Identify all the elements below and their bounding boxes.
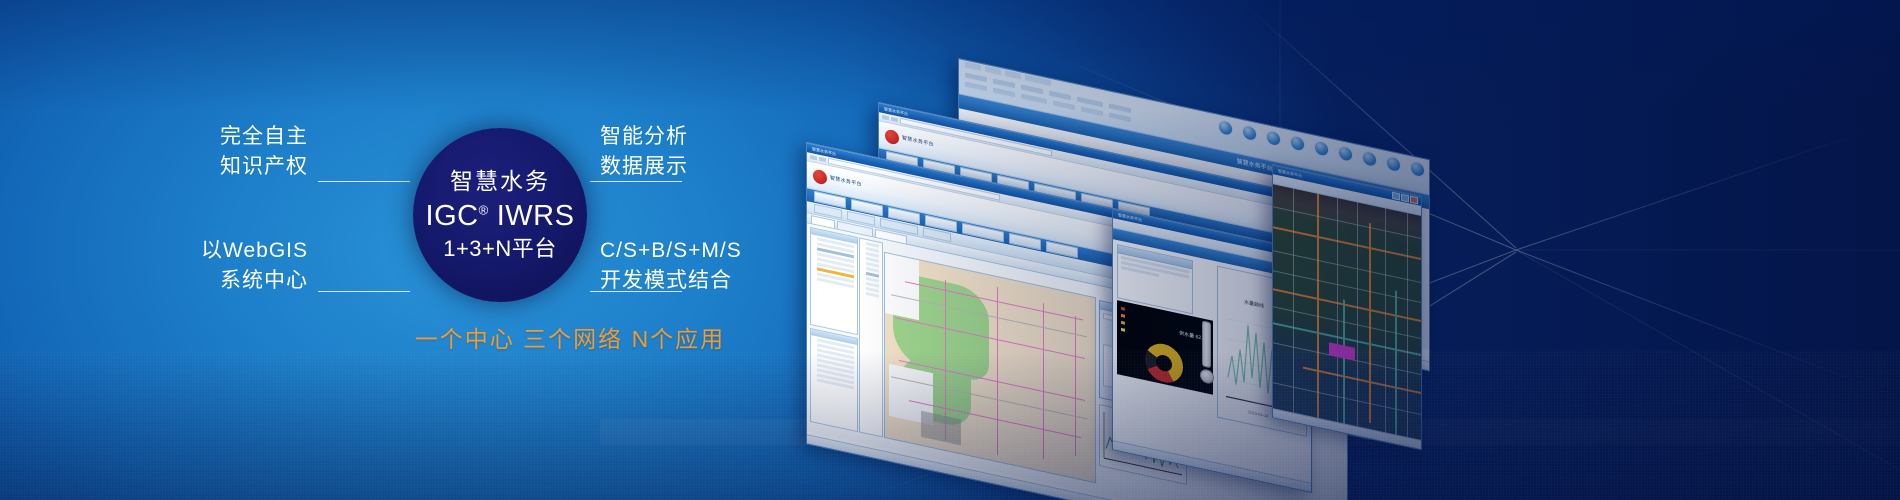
- company-logo-icon: [885, 129, 899, 146]
- sat-line-v: [1395, 290, 1397, 434]
- feature-label-top-left-line2: 知识产权: [180, 152, 308, 182]
- legend-swatch-3: [1121, 321, 1125, 325]
- sat-grid-v: [1357, 202, 1358, 426]
- sat-road-v: [1369, 223, 1371, 423]
- banner-tagline: 一个中心 三个网络 N个应用: [360, 320, 780, 354]
- sat-line-v: [1343, 299, 1345, 423]
- selected-area-highlight[interactable]: [1329, 342, 1355, 361]
- feature-label-top-left-line1: 完全自主: [180, 122, 308, 152]
- sat-grid-v: [1293, 189, 1294, 413]
- sat-grid-v: [1407, 213, 1408, 437]
- feature-label-bottom-right: C/S+B/S+M/S 开发模式结合: [600, 236, 780, 296]
- company-logo-icon: [813, 169, 827, 186]
- feature-label-top-left: 完全自主 知识产权: [180, 122, 308, 182]
- sat-grid-h: [1273, 206, 1421, 239]
- hero-banner: 智慧水务平台 (IGC®IWRS) 智慧水务平台 智慧水务平台 智慧水务平台 (…: [0, 0, 1900, 500]
- hub-brand-iwrs: IWRS: [497, 200, 575, 232]
- feature-label-top-right-line1: 智能分析: [600, 122, 770, 152]
- legend-swatch-2: [1121, 314, 1125, 318]
- sat-road-v: [1317, 194, 1319, 418]
- legend-swatch-4: [1121, 328, 1125, 332]
- platform-hub-circle: 智慧水务 IGC® IWRS 1+3+N平台: [413, 128, 587, 302]
- feature-label-top-right-line2: 数据展示: [600, 152, 770, 182]
- sat-road-h: [1273, 288, 1421, 322]
- brand-name: 智慧水务平台: [902, 134, 934, 148]
- feature-label-bottom-left-line1: 以WebGIS: [180, 236, 308, 266]
- feature-label-bottom-right-line2: 开发模式结合: [600, 266, 780, 296]
- feature-label-bottom-right-line1: C/S+B/S+M/S: [600, 236, 780, 266]
- zoom-slider[interactable]: [1202, 320, 1211, 368]
- map-toolbox[interactable]: [859, 237, 883, 437]
- brand-name: 智慧水务平台: [830, 174, 862, 188]
- hub-line-3: 1+3+N平台: [443, 238, 557, 260]
- window-satellite-map[interactable]: 智慧水务平台: [1272, 164, 1422, 450]
- chart-xlabel: 2013-04-18: [1248, 409, 1269, 418]
- pipeline-map[interactable]: [884, 252, 1096, 484]
- feature-label-bottom-left: 以WebGIS 系统中心: [180, 236, 308, 296]
- sat-grid-v: [1337, 198, 1338, 422]
- sat-grid-h: [1273, 270, 1421, 303]
- attribute-panel[interactable]: [810, 328, 858, 432]
- hub-line-1: 智慧水务: [450, 170, 550, 193]
- supply-donut-chart: [1145, 340, 1183, 386]
- feature-label-bottom-left-line2: 系统中心: [180, 266, 308, 296]
- sat-grid-h: [1273, 306, 1421, 339]
- water-volume-dashboard: 供水量 62.23: [1117, 300, 1213, 395]
- hub-brand-igc: IGC: [426, 200, 479, 232]
- hub-line-2: IGC® IWRS: [426, 202, 575, 231]
- feature-label-top-right: 智能分析 数据展示: [600, 122, 770, 182]
- sat-grid-v: [1385, 208, 1386, 432]
- connector-top-left: [318, 181, 410, 182]
- connector-bottom-left: [318, 291, 410, 292]
- legend-swatch-1: [1121, 307, 1125, 311]
- satellite-imagery[interactable]: [1273, 184, 1421, 440]
- layer-tree-panel[interactable]: [810, 227, 858, 335]
- screenshot-stack: 智慧水务平台 (IGC®IWRS) 智慧水务平台 智慧水务平台 智慧水务平台 (…: [790, 40, 1590, 460]
- registered-mark-icon: ®: [479, 202, 489, 217]
